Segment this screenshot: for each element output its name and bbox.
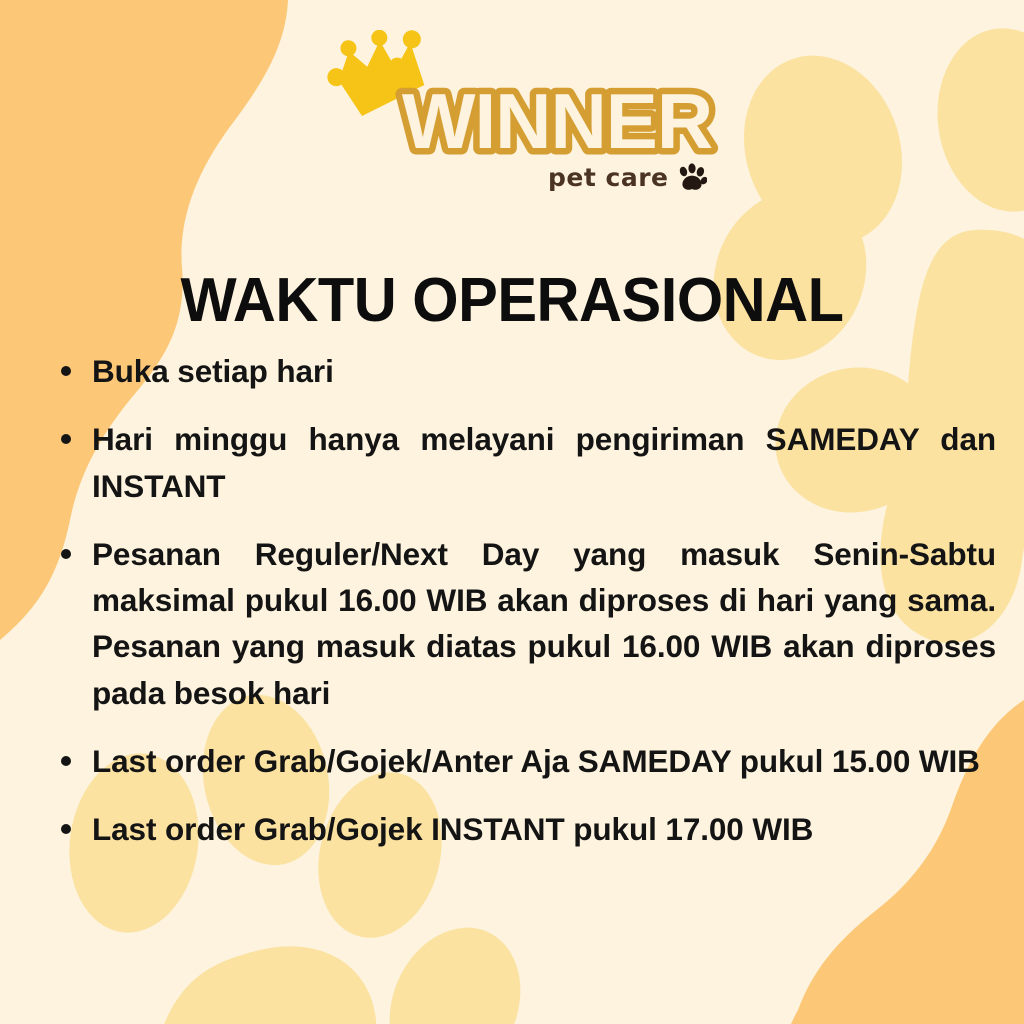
list-item: Pesanan Reguler/Next Day yang masuk Seni…	[52, 531, 996, 716]
list-item: Last order Grab/Gojek INSTANT pukul 17.0…	[52, 806, 996, 852]
svg-text:WINNER: WINNER	[402, 77, 712, 165]
list-item: Last order Grab/Gojek/Anter Aja SAMEDAY …	[52, 738, 996, 784]
poster-canvas: WINNER pet care WAKTU OPERASIONAL Buka s…	[0, 0, 1024, 1024]
paw-print-icon	[677, 162, 707, 192]
list-item: Buka setiap hari	[52, 348, 996, 394]
list-item: Hari minggu hanya melayani pengiriman SA…	[52, 416, 996, 509]
winner-wordmark: WINNER	[392, 76, 722, 168]
pet-care-tagline-row: pet care	[548, 162, 707, 192]
pet-care-label: pet care	[548, 165, 668, 190]
operating-hours-list: Buka setiap hari Hari minggu hanya melay…	[52, 348, 996, 853]
page-title: WAKTU OPERASIONAL	[20, 270, 1003, 332]
brand-logo: WINNER pet care	[0, 14, 1024, 199]
